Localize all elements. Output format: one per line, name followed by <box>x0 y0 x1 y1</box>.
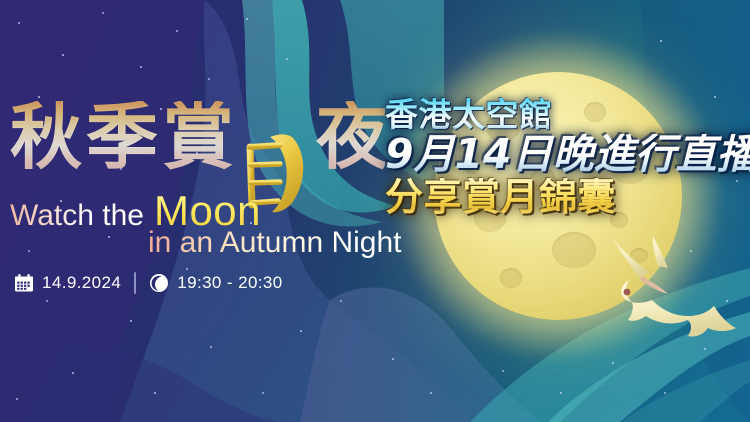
title-char-3: 賞 <box>160 101 236 173</box>
event-date-item: 14.9.2024 <box>14 273 121 293</box>
main-title-cn: 秋 季 賞 夜 <box>8 94 390 180</box>
event-banner: 秋 季 賞 夜 <box>0 0 750 422</box>
event-time-item: 19:30 - 20:30 <box>149 273 282 293</box>
info-divider <box>134 272 136 294</box>
calendar-icon <box>14 273 34 293</box>
title-char-1: 秋 <box>8 101 84 173</box>
subtitle-watch-the: Watch the <box>10 199 144 233</box>
event-info-bar: 14.9.2024 19:30 - 20:30 <box>14 270 283 296</box>
event-time-text: 19:30 - 20:30 <box>177 273 282 293</box>
subtitle-line-2: in an Autumn Night <box>148 226 402 260</box>
promo-line-broadcast: 9月14日晚進行直播 <box>385 134 750 176</box>
promo-text-block: 香港太空館 9月14日晚進行直播 分享賞月錦囊 <box>385 98 750 217</box>
moon-clock-icon <box>149 273 169 293</box>
promo-line-venue: 香港太空館 <box>385 98 750 132</box>
title-char-2: 季 <box>84 101 160 173</box>
title-char-5: 夜 <box>314 101 390 173</box>
rabbit-illustration <box>596 236 744 344</box>
promo-line-tips: 分享賞月錦囊 <box>385 178 750 217</box>
event-date-text: 14.9.2024 <box>42 273 121 293</box>
